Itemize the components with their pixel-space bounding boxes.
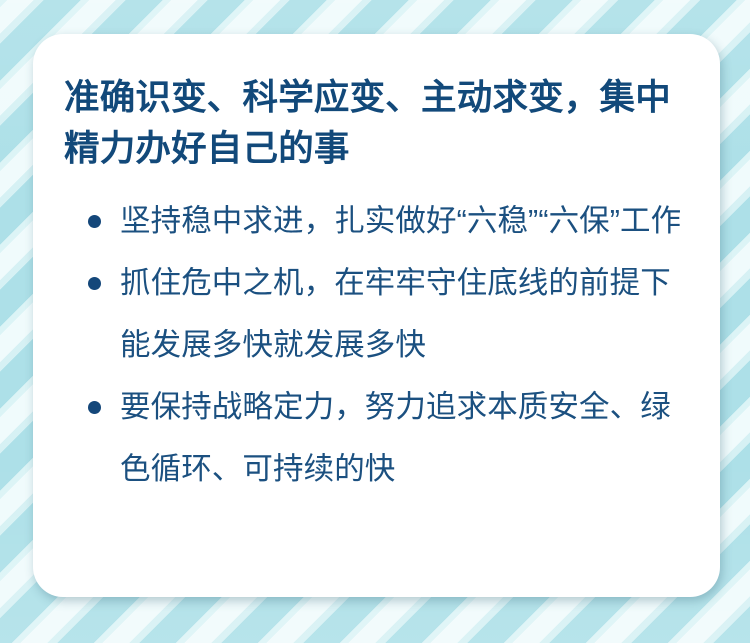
bullet-dot-icon	[88, 401, 101, 414]
bullet-dot-icon	[88, 215, 101, 228]
poster-background: 准确识变、科学应变、主动求变，集中精力办好自己的事 坚持稳中求进，扎实做好“六稳…	[0, 0, 750, 643]
list-item: 坚持稳中求进，扎实做好“六稳”“六保”工作	[64, 190, 690, 252]
bullet-list: 坚持稳中求进，扎实做好“六稳”“六保”工作 抓住危中之机，在牢牢守住底线的前提下…	[64, 190, 690, 500]
list-item-text: 抓住危中之机，在牢牢守住底线的前提下能发展多快就发展多快	[120, 252, 690, 376]
list-item: 抓住危中之机，在牢牢守住底线的前提下能发展多快就发展多快	[64, 252, 690, 376]
list-item-text: 坚持稳中求进，扎实做好“六稳”“六保”工作	[120, 190, 690, 252]
list-item-text: 要保持战略定力，努力追求本质安全、绿色循环、可持续的快	[120, 376, 690, 500]
page-title: 准确识变、科学应变、主动求变，集中精力办好自己的事	[64, 72, 690, 174]
list-item: 要保持战略定力，努力追求本质安全、绿色循环、可持续的快	[64, 376, 690, 500]
content-card: 准确识变、科学应变、主动求变，集中精力办好自己的事 坚持稳中求进，扎实做好“六稳…	[33, 34, 720, 597]
bullet-dot-icon	[88, 277, 101, 290]
